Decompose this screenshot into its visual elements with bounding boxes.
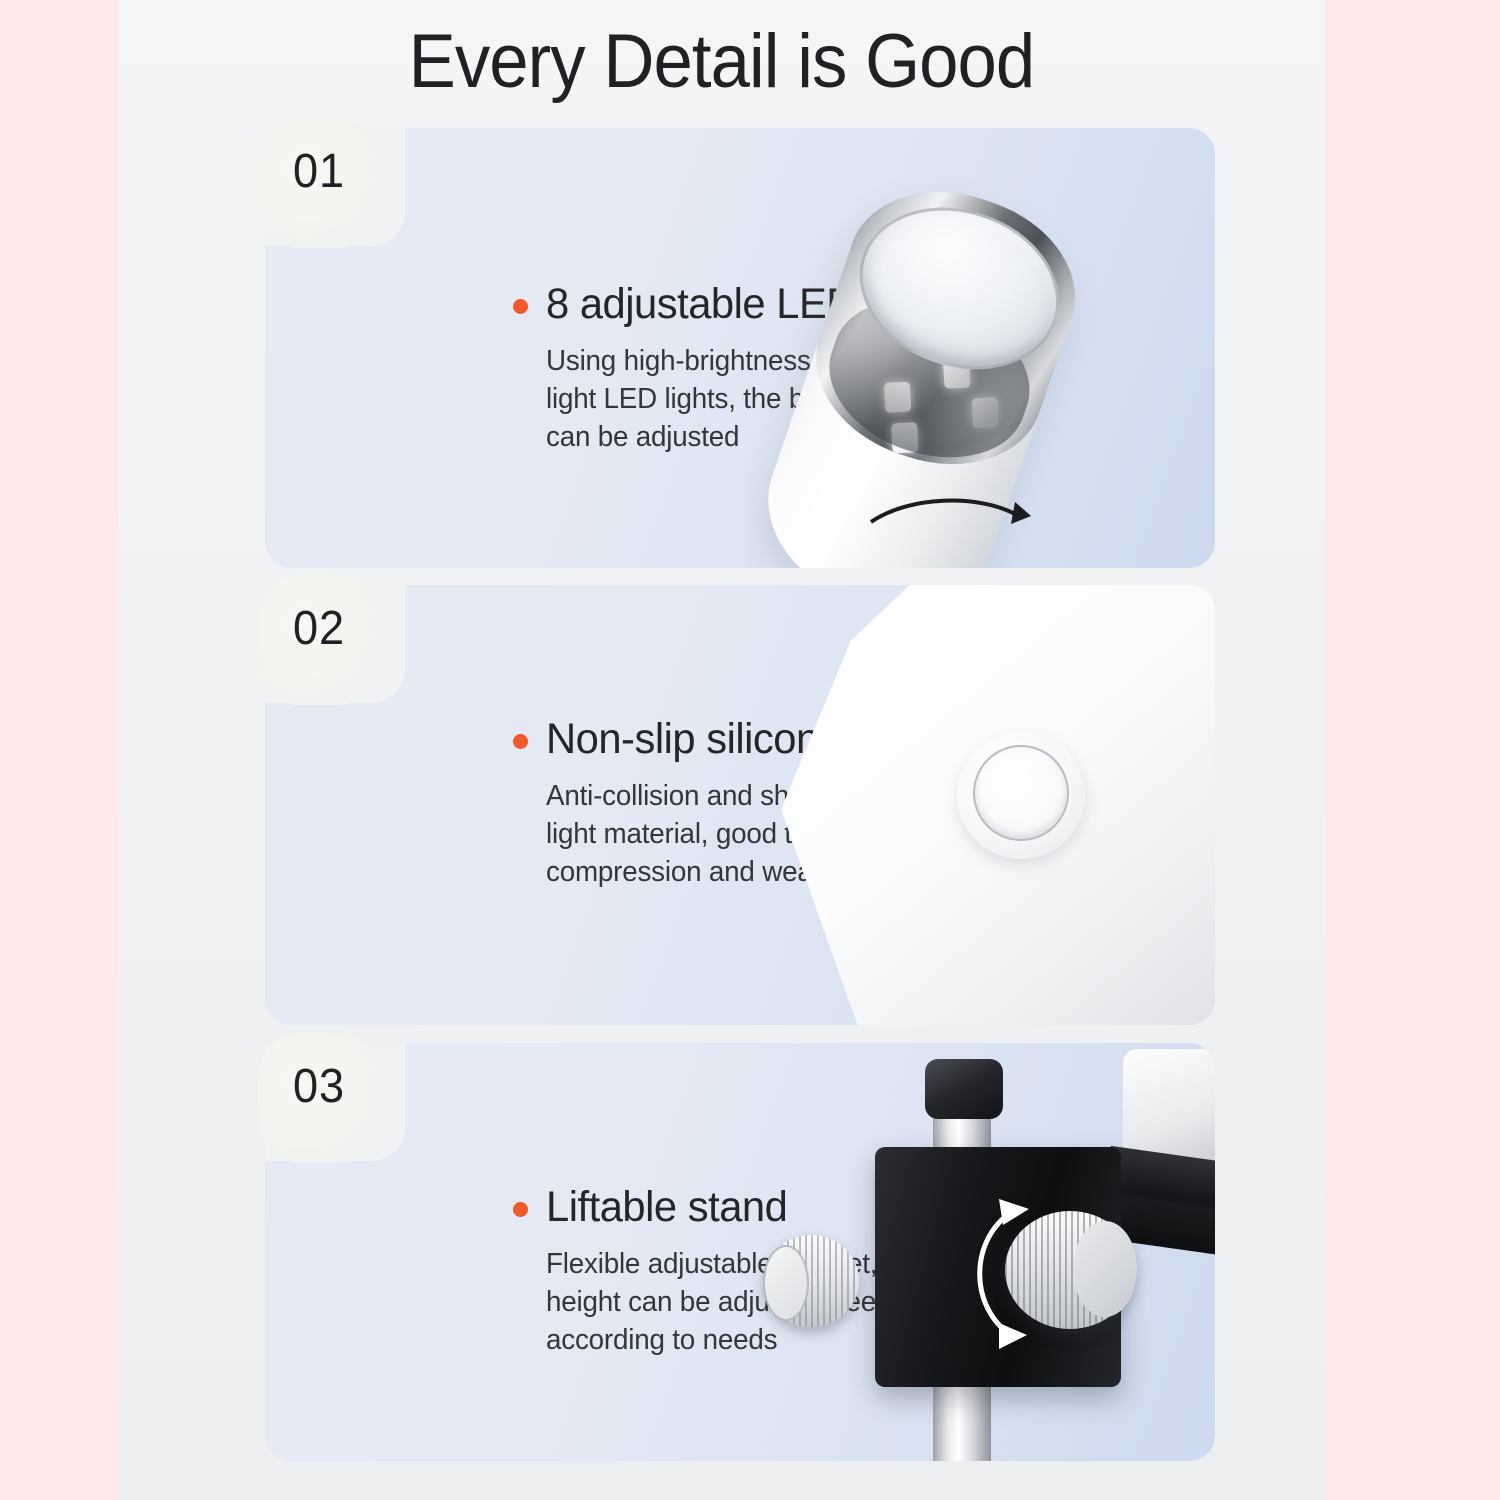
product-image-bracket: [745, 1043, 1215, 1461]
step-badge-01: 01: [258, 118, 380, 248]
silicone-foot-inner: [973, 745, 1069, 841]
page-title: Every Detail is Good: [160, 18, 1283, 105]
content-panel: Every Detail is Good 8 adjustable LEDs U…: [118, 0, 1325, 1500]
feature-card-03[interactable]: Liftable stand Flexible adjustable brack…: [265, 1043, 1215, 1461]
step-badge-02: 02: [258, 575, 380, 705]
led-light-icon: [891, 422, 919, 453]
feature-card-01[interactable]: 8 adjustable LEDs Using high-brightness …: [265, 128, 1215, 568]
adjustment-knob-small: [763, 1235, 859, 1327]
led-light-icon: [884, 382, 912, 413]
bullet-dot-icon: [513, 734, 528, 749]
rotation-arrow-icon: [865, 480, 1035, 540]
step-badge-03: 03: [258, 1033, 380, 1163]
silicone-foot-outer: [957, 731, 1085, 859]
product-image-base: [745, 585, 1215, 1025]
step-number: 03: [262, 1033, 377, 1163]
led-light-icon: [972, 397, 1000, 428]
post-cap: [925, 1059, 1003, 1119]
step-number: 01: [262, 118, 377, 248]
feature-card-02[interactable]: Non-slip silicone base Anti-collision an…: [265, 585, 1215, 1025]
product-image-lens: [745, 128, 1215, 568]
infographic-page: Every Detail is Good 8 adjustable LEDs U…: [0, 0, 1500, 1500]
bullet-dot-icon: [513, 299, 528, 314]
base-plate-shape: [781, 585, 1215, 1025]
bullet-dot-icon: [513, 1202, 528, 1217]
white-mount-panel: [1123, 1049, 1215, 1161]
rotation-arrows-icon: [941, 1183, 1061, 1363]
step-number: 02: [262, 575, 377, 705]
